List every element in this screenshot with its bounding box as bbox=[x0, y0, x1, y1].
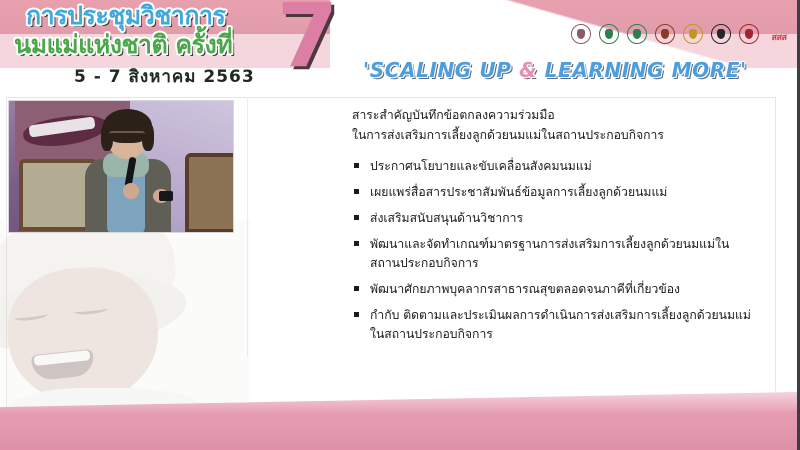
conference-title-line1: การประชุมวิชาการ bbox=[8, 2, 308, 30]
bullet-list: ประกาศนโยบายและขับเคลื่อนสังคมนมแม่ เผยแ… bbox=[352, 157, 752, 344]
tagline-suffix: LEARNING MORE' bbox=[537, 58, 747, 82]
list-item-label: กำกับ ติดตามและประเมินผลการดำเนินการส่งเ… bbox=[370, 308, 751, 341]
logo-royal-college-icon bbox=[682, 24, 704, 50]
lead-line-2: ในการส่งเสริมการเลี้ยงลูกด้วยนมแม่ในสถาน… bbox=[352, 125, 752, 145]
logo-department-health-icon bbox=[626, 24, 648, 50]
list-item: ประกาศนโยบายและขับเคลื่อนสังคมนมแม่ bbox=[352, 157, 752, 176]
square-bullet-icon bbox=[354, 286, 359, 291]
conference-speaker-video-still[interactable] bbox=[8, 100, 234, 233]
tagline-prefix: 'SCALING UP bbox=[363, 58, 519, 82]
list-item-label: เผยแพร่สื่อสารประชาสัมพันธ์ข้อมูลการเลี้… bbox=[370, 185, 667, 199]
list-item-label: ประกาศนโยบายและขับเคลื่อนสังคมนมแม่ bbox=[370, 159, 592, 173]
edition-number: 7 bbox=[277, 0, 338, 80]
conference-tagline: 'SCALING UP & LEARNING MORE' bbox=[363, 58, 747, 82]
list-item: พัฒนาศักยภาพบุคลากรสาธารณสุขตลอดจนภาคีที… bbox=[352, 280, 752, 299]
list-item-label: พัฒนาและจัดทำเกณฑ์มาตรฐานการส่งเสริมการเ… bbox=[370, 237, 729, 270]
footer-pink-band bbox=[0, 392, 800, 450]
conference-title-line2: นมแม่แห่งชาติ ครั้งที่ bbox=[8, 31, 308, 59]
lead-paragraph: สาระสำคัญบันทึกข้อตกลงความร่วมมือ ในการส… bbox=[352, 105, 752, 145]
lead-line-1: สาระสำคัญบันทึกข้อตกลงความร่วมมือ bbox=[352, 105, 752, 125]
slide-header-banner: การประชุมวิชาการ นมแม่แห่งชาติ ครั้งที่ … bbox=[0, 0, 800, 95]
list-item-label: ส่งเสริมสนับสนุนด้านวิชาการ bbox=[370, 211, 523, 225]
square-bullet-icon bbox=[354, 215, 359, 220]
square-bullet-icon bbox=[354, 241, 359, 246]
conference-date: 5 - 7 สิงหาคม 2563 bbox=[8, 63, 308, 90]
logo-university-black-icon bbox=[710, 24, 732, 50]
sponsor-logo-strip: สสส bbox=[570, 24, 792, 50]
square-bullet-icon bbox=[354, 189, 359, 194]
list-item: ส่งเสริมสนับสนุนด้านวิชาการ bbox=[352, 209, 752, 228]
square-bullet-icon bbox=[354, 163, 359, 168]
list-item-label: พัฒนาศักยภาพบุคลากรสาธารณสุขตลอดจนภาคีที… bbox=[370, 282, 680, 296]
tagline-ampersand: & bbox=[519, 58, 537, 82]
presentation-slide: การประชุมวิชาการ นมแม่แห่งชาติ ครั้งที่ … bbox=[0, 0, 800, 450]
logo-thai-pediatric-icon bbox=[654, 24, 676, 50]
slide-text-column: สาระสำคัญบันทึกข้อตกลงความร่วมมือ ในการส… bbox=[352, 105, 752, 351]
presenter-clicker-icon bbox=[159, 191, 173, 201]
list-item: กำกับ ติดตามและประเมินผลการดำเนินการส่งเ… bbox=[352, 306, 752, 344]
logo-thaihealth-sss-icon: สสส bbox=[766, 24, 792, 50]
logo-ministry-public-health-icon bbox=[598, 24, 620, 50]
list-item: เผยแพร่สื่อสารประชาสัมพันธ์ข้อมูลการเลี้… bbox=[352, 183, 752, 202]
conference-title-block: การประชุมวิชาการ นมแม่แห่งชาติ ครั้งที่ … bbox=[8, 2, 308, 90]
square-bullet-icon bbox=[354, 312, 359, 317]
glasses-icon bbox=[109, 131, 145, 139]
logo-royal-crest-icon bbox=[570, 24, 592, 50]
column-divider bbox=[247, 97, 248, 357]
logo-red-crest-icon bbox=[738, 24, 760, 50]
list-item: พัฒนาและจัดทำเกณฑ์มาตรฐานการส่งเสริมการเ… bbox=[352, 235, 752, 273]
